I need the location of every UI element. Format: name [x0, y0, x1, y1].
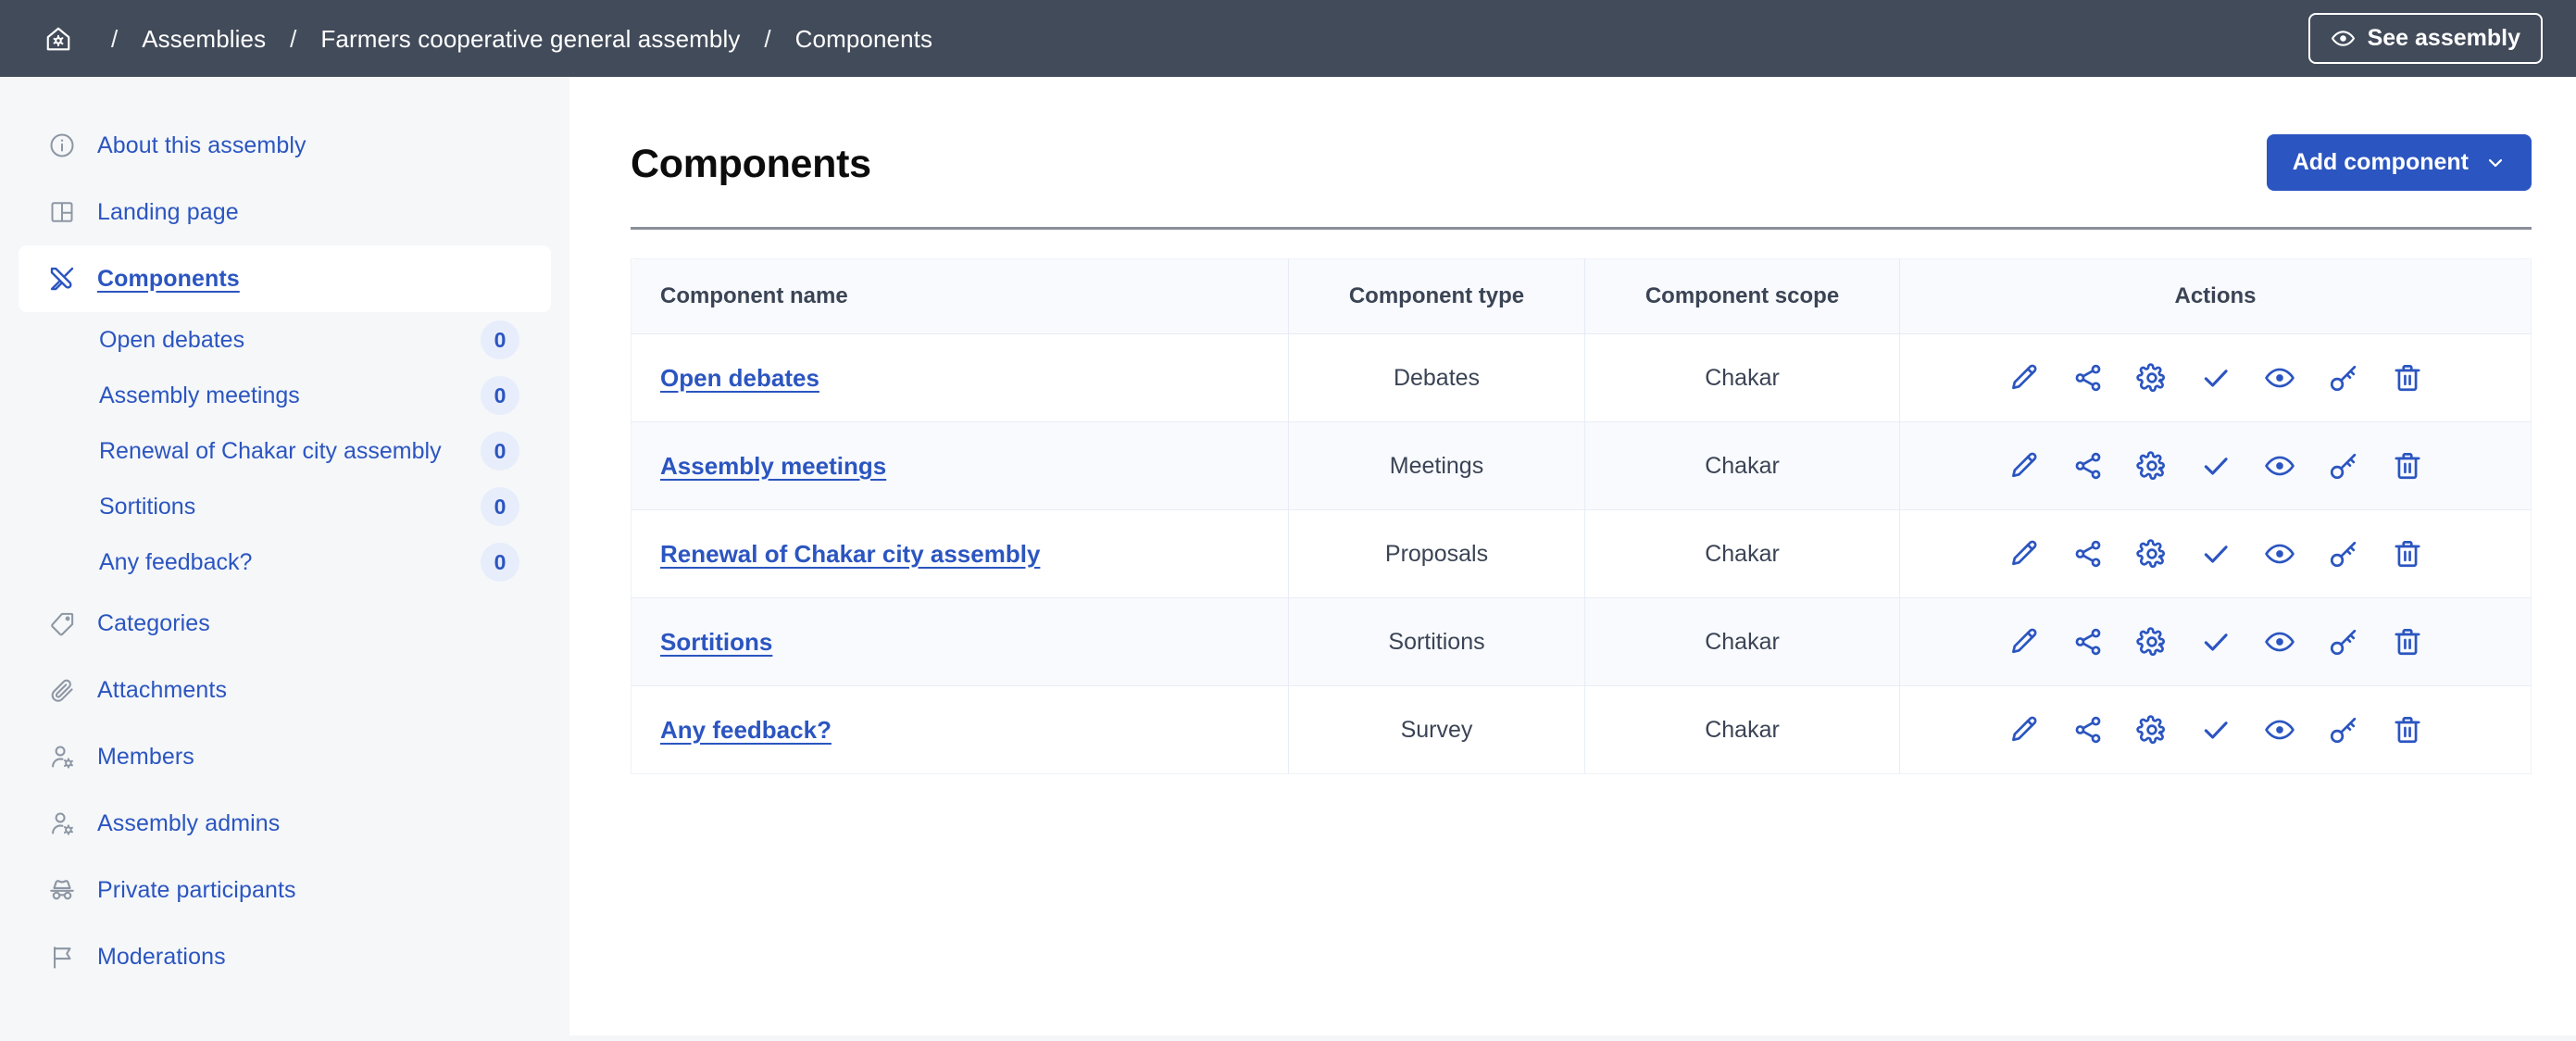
breadcrumb-item-components[interactable]: Components — [795, 27, 932, 51]
cell-component-type: Debates — [1289, 334, 1585, 422]
trash-icon[interactable] — [2389, 359, 2426, 396]
sidebar-item-landing-page[interactable]: Landing page — [19, 179, 551, 245]
eye-icon[interactable] — [2261, 623, 2298, 660]
table-row: Any feedback?SurveyChakar — [631, 686, 2532, 774]
paperclip-icon — [47, 675, 77, 705]
cell-actions — [1900, 422, 2532, 510]
check-icon[interactable] — [2197, 623, 2234, 660]
breadcrumb: / Assemblies / Farmers cooperative gener… — [41, 21, 2308, 56]
cell-component-name: Open debates — [631, 334, 1289, 422]
gear-icon[interactable] — [2133, 711, 2170, 748]
sidebar-item-private-participants[interactable]: Private participants — [19, 857, 551, 923]
components-table: Component name Component type Component … — [631, 258, 2532, 774]
edit-icon[interactable] — [2006, 535, 2043, 572]
user-gear-icon — [47, 742, 77, 771]
sidebar-item-label: Attachments — [97, 677, 227, 704]
eye-icon[interactable] — [2261, 535, 2298, 572]
row-actions — [1900, 447, 2531, 484]
add-component-label: Add component — [2293, 151, 2469, 174]
gear-icon[interactable] — [2133, 359, 2170, 396]
gear-icon[interactable] — [2133, 623, 2170, 660]
check-icon[interactable] — [2197, 447, 2234, 484]
cell-component-name: Any feedback? — [631, 686, 1289, 774]
cell-component-name: Renewal of Chakar city assembly — [631, 510, 1289, 598]
page-shell: About this assembly Landing page Compone… — [0, 77, 2576, 1041]
sidebar-item-label: Landing page — [97, 199, 239, 226]
sidebar-item-label: Components — [97, 266, 240, 293]
component-name-link[interactable]: Renewal of Chakar city assembly — [660, 540, 1040, 568]
sidebar: About this assembly Landing page Compone… — [0, 77, 569, 1041]
breadcrumb-item-assembly[interactable]: Farmers cooperative general assembly — [320, 27, 740, 51]
sidebar-item-label: Private participants — [97, 877, 296, 904]
sidebar-subitem-sortitions[interactable]: Sortitions 0 — [19, 479, 551, 534]
sidebar-item-categories[interactable]: Categories — [19, 590, 551, 657]
incognito-icon — [47, 875, 77, 905]
eye-icon — [2331, 26, 2356, 51]
sidebar-subitem-label: Sortitions — [99, 494, 481, 520]
see-assembly-label: See assembly — [2368, 27, 2520, 50]
edit-icon[interactable] — [2006, 359, 2043, 396]
sidebar-subitem-label: Assembly meetings — [99, 383, 481, 409]
cell-component-type: Survey — [1289, 686, 1585, 774]
see-assembly-button[interactable]: See assembly — [2308, 13, 2543, 64]
check-icon[interactable] — [2197, 535, 2234, 572]
trash-icon[interactable] — [2389, 623, 2426, 660]
breadcrumb-separator: / — [87, 27, 142, 51]
key-icon[interactable] — [2325, 711, 2362, 748]
tools-icon — [47, 264, 77, 294]
table-row: Open debatesDebatesChakar — [631, 334, 2532, 422]
key-icon[interactable] — [2325, 623, 2362, 660]
sidebar-subitem-any-feedback[interactable]: Any feedback? 0 — [19, 534, 551, 590]
column-header-component-type: Component type — [1289, 259, 1585, 334]
trash-icon[interactable] — [2389, 447, 2426, 484]
sidebar-item-components[interactable]: Components — [19, 245, 551, 312]
sidebar-item-label: Members — [97, 744, 194, 771]
cell-component-name: Assembly meetings — [631, 422, 1289, 510]
row-actions — [1900, 359, 2531, 396]
eye-icon[interactable] — [2261, 447, 2298, 484]
layout-grid-icon — [47, 197, 77, 227]
main-content: Components Add component Component name — [569, 77, 2576, 1035]
sidebar-subitem-label: Any feedback? — [99, 549, 481, 576]
sidebar-subitem-count: 0 — [481, 320, 519, 359]
sidebar-item-label: Assembly admins — [97, 810, 280, 837]
breadcrumb-separator: / — [740, 27, 794, 51]
cell-actions — [1900, 686, 2532, 774]
breadcrumb-item-assemblies[interactable]: Assemblies — [142, 27, 266, 51]
page-header: Components Add component — [631, 134, 2532, 191]
table-header: Component name Component type Component … — [631, 259, 2532, 334]
edit-icon[interactable] — [2006, 447, 2043, 484]
share-icon[interactable] — [2070, 711, 2107, 748]
top-bar: / Assemblies / Farmers cooperative gener… — [0, 0, 2576, 77]
sidebar-subitem-renewal-of-chakar-city-assembly[interactable]: Renewal of Chakar city assembly 0 — [19, 423, 551, 479]
sidebar-item-label: Moderations — [97, 944, 226, 971]
info-circle-icon — [47, 131, 77, 160]
key-icon[interactable] — [2325, 447, 2362, 484]
row-actions — [1900, 535, 2531, 572]
sidebar-item-assembly-admins[interactable]: Assembly admins — [19, 790, 551, 857]
sidebar-subitem-open-debates[interactable]: Open debates 0 — [19, 312, 551, 368]
row-actions — [1900, 711, 2531, 748]
share-icon[interactable] — [2070, 447, 2107, 484]
cell-component-type: Proposals — [1289, 510, 1585, 598]
row-actions — [1900, 623, 2531, 660]
check-icon[interactable] — [2197, 711, 2234, 748]
trash-icon[interactable] — [2389, 711, 2426, 748]
component-name-link[interactable]: Sortitions — [660, 628, 772, 656]
trash-icon[interactable] — [2389, 535, 2426, 572]
sidebar-subitem-label: Open debates — [99, 327, 481, 354]
component-name-link[interactable]: Any feedback? — [660, 716, 832, 744]
table-header-row: Component name Component type Component … — [631, 259, 2532, 334]
sidebar-subitem-assembly-meetings[interactable]: Assembly meetings 0 — [19, 368, 551, 423]
sidebar-subitem-count: 0 — [481, 543, 519, 582]
eye-icon[interactable] — [2261, 711, 2298, 748]
tag-icon — [47, 608, 77, 638]
add-component-button[interactable]: Add component — [2267, 134, 2532, 191]
edit-icon[interactable] — [2006, 623, 2043, 660]
eye-icon[interactable] — [2261, 359, 2298, 396]
sidebar-item-members[interactable]: Members — [19, 723, 551, 790]
gear-icon[interactable] — [2133, 535, 2170, 572]
key-icon[interactable] — [2325, 359, 2362, 396]
table-row: Assembly meetingsMeetingsChakar — [631, 422, 2532, 510]
breadcrumb-separator: / — [266, 27, 320, 51]
cell-actions — [1900, 334, 2532, 422]
header-divider — [631, 227, 2532, 230]
cell-actions — [1900, 598, 2532, 686]
cell-component-scope: Chakar — [1585, 334, 1900, 422]
column-header-component-name: Component name — [631, 259, 1289, 334]
components-table-wrapper: Component name Component type Component … — [631, 258, 2532, 774]
share-icon[interactable] — [2070, 623, 2107, 660]
home-gear-icon[interactable] — [41, 21, 76, 56]
share-icon[interactable] — [2070, 535, 2107, 572]
cell-component-type: Meetings — [1289, 422, 1585, 510]
cell-component-scope: Chakar — [1585, 598, 1900, 686]
cell-component-scope: Chakar — [1585, 686, 1900, 774]
share-icon[interactable] — [2070, 359, 2107, 396]
cell-actions — [1900, 510, 2532, 598]
table-row: SortitionsSortitionsChakar — [631, 598, 2532, 686]
gear-icon[interactable] — [2133, 447, 2170, 484]
sidebar-item-label: Categories — [97, 610, 210, 637]
cell-component-scope: Chakar — [1585, 422, 1900, 510]
column-header-component-scope: Component scope — [1585, 259, 1900, 334]
component-name-link[interactable]: Open debates — [660, 364, 819, 392]
page-title: Components — [631, 134, 871, 187]
sidebar-subitem-count: 0 — [481, 432, 519, 470]
key-icon[interactable] — [2325, 535, 2362, 572]
sidebar-item-attachments[interactable]: Attachments — [19, 657, 551, 723]
table-body: Open debatesDebatesChakarAssembly meetin… — [631, 334, 2532, 774]
chevron-down-icon — [2485, 153, 2506, 173]
sidebar-item-moderations[interactable]: Moderations — [19, 923, 551, 990]
cell-component-type: Sortitions — [1289, 598, 1585, 686]
user-gear-icon — [47, 809, 77, 838]
flag-icon — [47, 942, 77, 972]
edit-icon[interactable] — [2006, 711, 2043, 748]
sidebar-item-about-this-assembly[interactable]: About this assembly — [19, 112, 551, 179]
sidebar-subitem-label: Renewal of Chakar city assembly — [99, 438, 481, 465]
sidebar-subitem-count: 0 — [481, 487, 519, 526]
check-icon[interactable] — [2197, 359, 2234, 396]
column-header-actions: Actions — [1900, 259, 2532, 334]
cell-component-scope: Chakar — [1585, 510, 1900, 598]
cell-component-name: Sortitions — [631, 598, 1289, 686]
table-row: Renewal of Chakar city assemblyProposals… — [631, 510, 2532, 598]
component-name-link[interactable]: Assembly meetings — [660, 452, 886, 480]
sidebar-item-label: About this assembly — [97, 132, 306, 159]
sidebar-subitem-count: 0 — [481, 376, 519, 415]
